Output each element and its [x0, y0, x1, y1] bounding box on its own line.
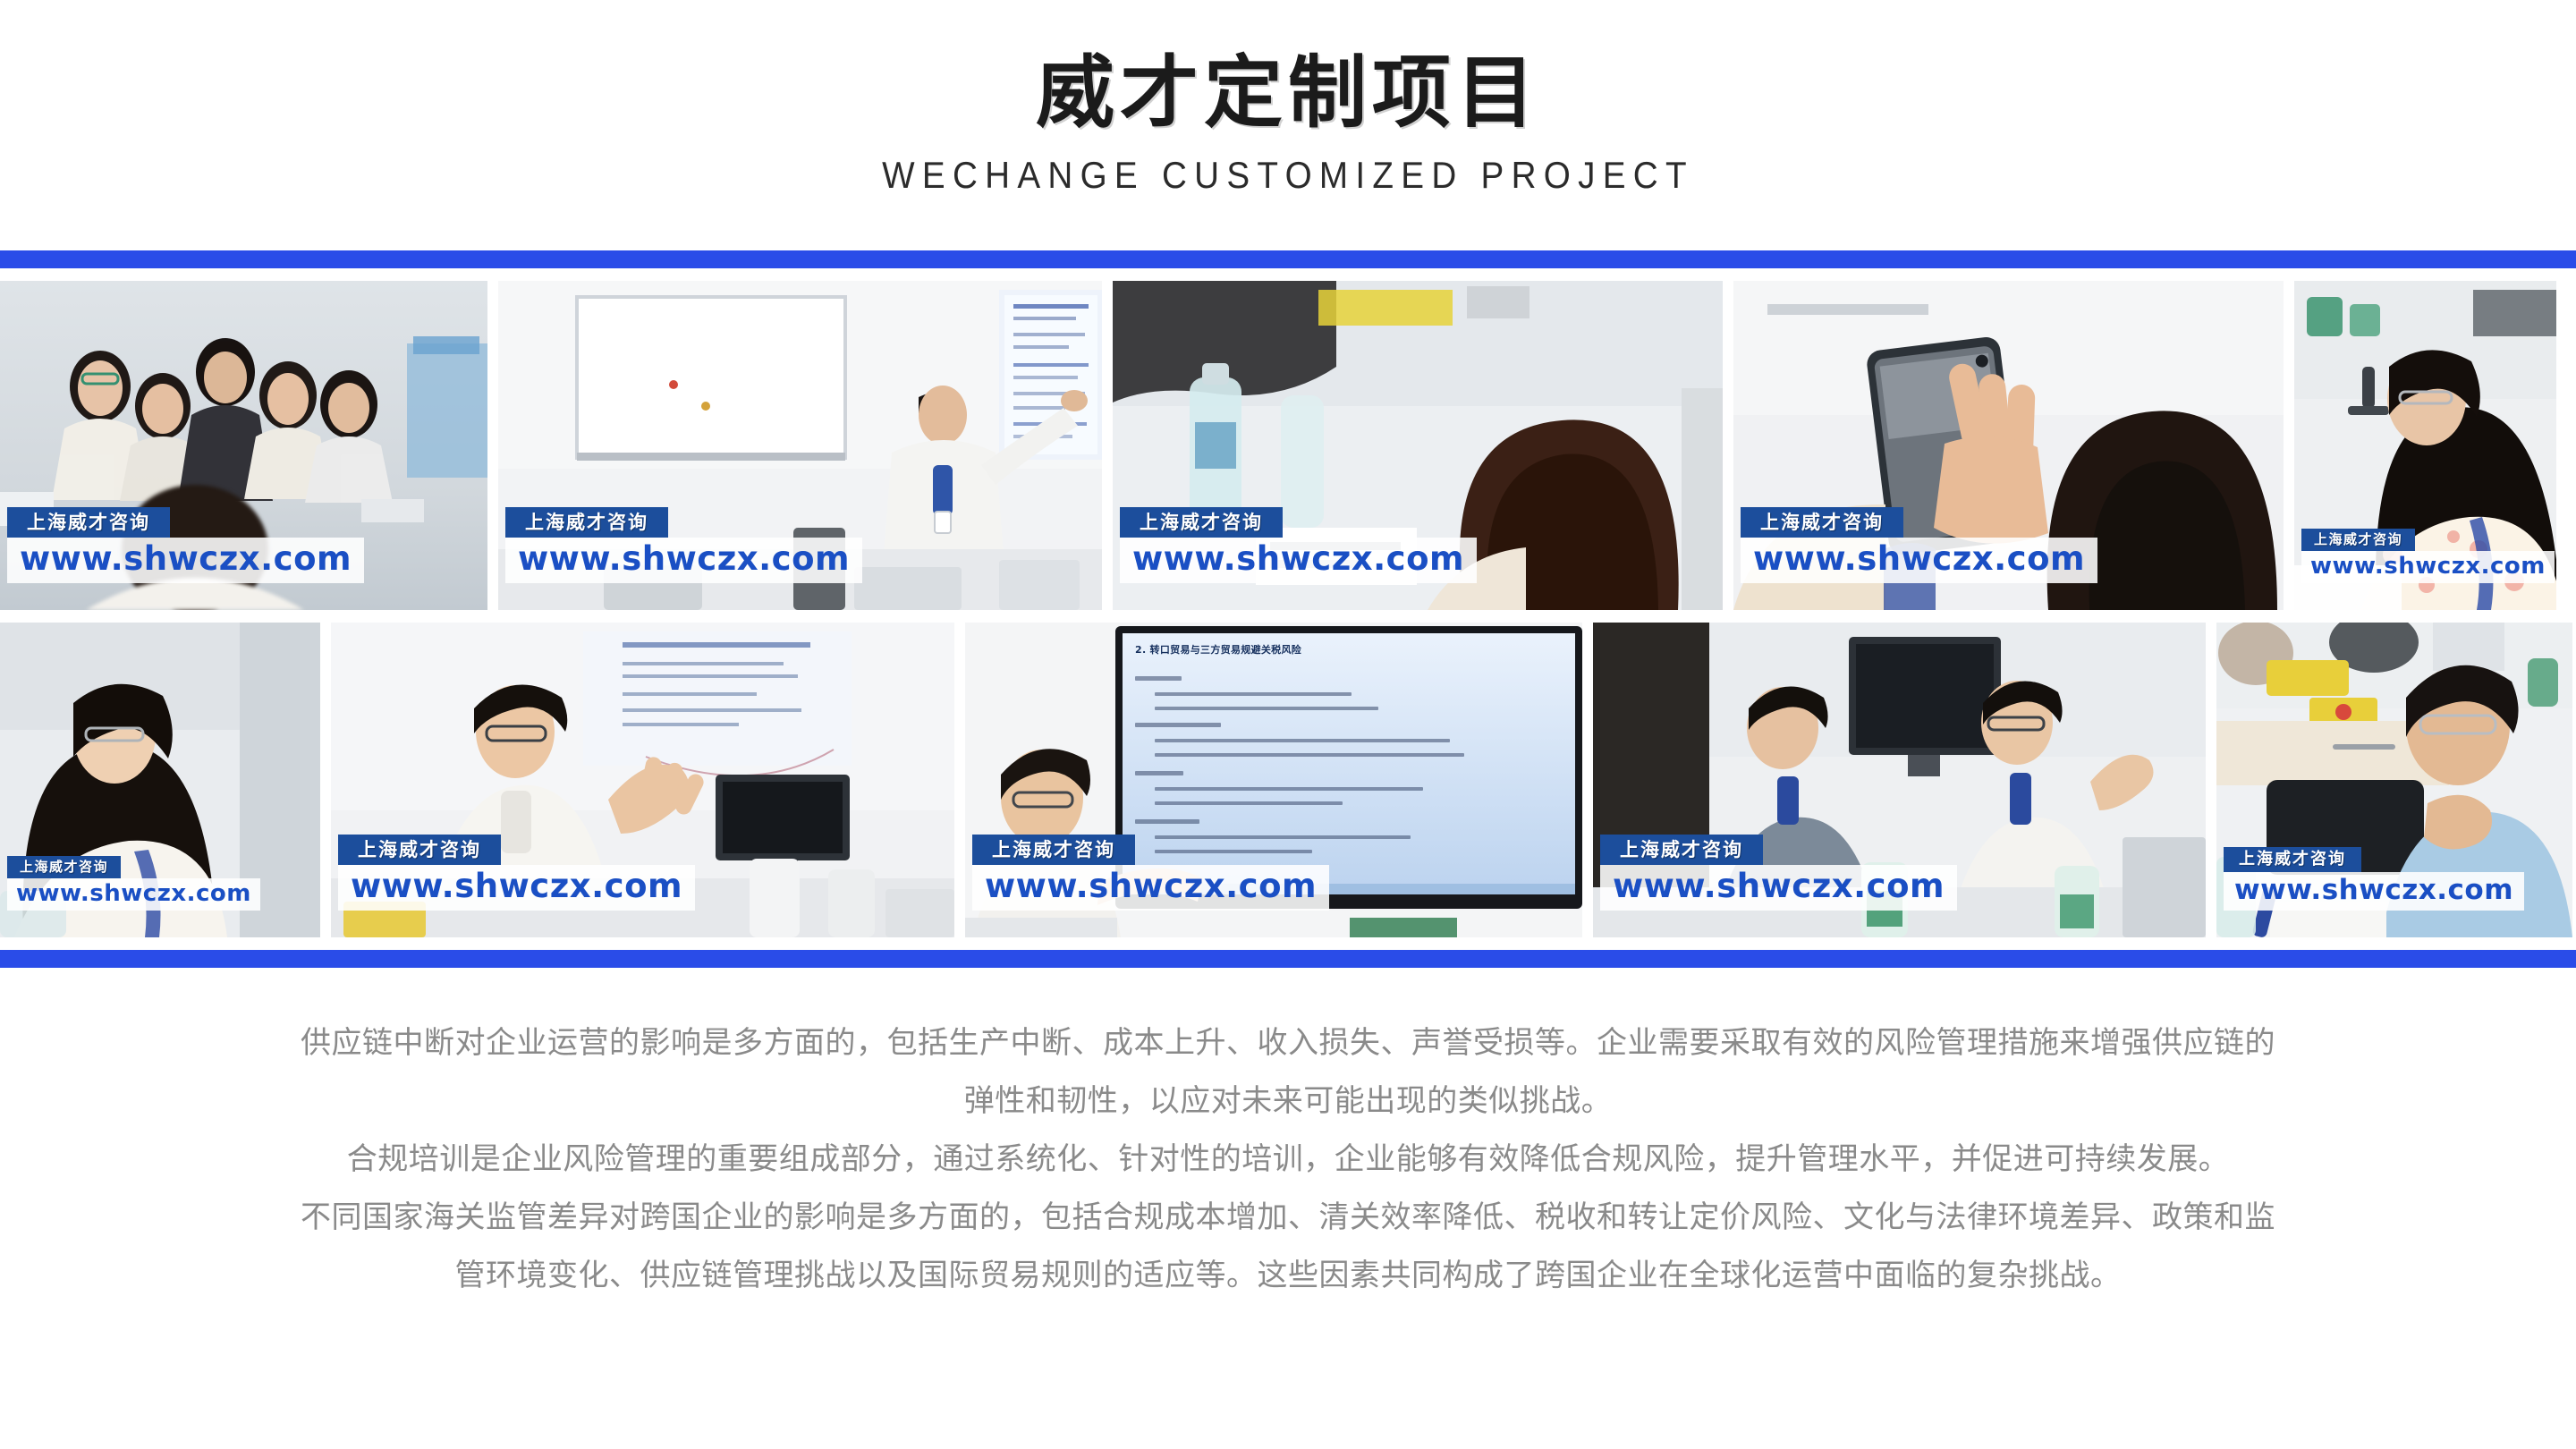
photo-phone-photographing-image	[1733, 281, 2284, 610]
body-line-5: 管环境变化、供应链管理挑战以及国际贸易规则的适应等。这些因素共同构成了跨国企业在…	[89, 1247, 2487, 1305]
photo-two-attendees-discussion-image	[1593, 623, 2206, 937]
photo-attendee-backview-image	[1113, 281, 1723, 610]
photo-presentation-screen-foreground	[965, 623, 1582, 937]
photo-lecturer-gesturing[interactable]: 上海威才咨询 www.shwczx.com	[331, 623, 954, 937]
photo-lecturer-gesturing-image	[331, 623, 954, 937]
photo-man-blue-shirt[interactable]: 上海威才咨询 www.shwczx.com	[2216, 623, 2572, 937]
body-line-3: 合规培训是企业风险管理的重要组成部分，通过系统化、针对性的培训，企业能够有效降低…	[89, 1131, 2487, 1189]
photo-woman-listening-image	[0, 623, 320, 937]
photo-man-blue-shirt-image	[2216, 623, 2572, 937]
gallery-row-bottom: 上海威才咨询 www.shwczx.com	[0, 623, 2576, 937]
body-line-1: 供应链中断对企业运营的影响是多方面的，包括生产中断、成本上升、收入损失、声誉受损…	[89, 1014, 2487, 1072]
photo-classroom-participants-image	[0, 281, 487, 610]
photo-woman-listening[interactable]: 上海威才咨询 www.shwczx.com	[0, 623, 320, 937]
photo-woman-taking-notes-image	[2294, 281, 2556, 610]
page-subtitle: WECHANGE CUSTOMIZED PROJECT	[103, 154, 2473, 197]
divider-top	[0, 250, 2576, 268]
photo-instructor-whiteboard-image	[498, 281, 1102, 610]
page-header: 威才定制项目 WECHANGE CUSTOMIZED PROJECT	[0, 0, 2576, 197]
divider-bottom	[0, 950, 2576, 968]
photo-woman-taking-notes[interactable]: 上海威才咨询 www.shwczx.com	[2294, 281, 2556, 610]
body-copy: 供应链中断对企业运营的影响是多方面的，包括生产中断、成本上升、收入损失、声誉受损…	[89, 1014, 2487, 1305]
body-line-4: 不同国家海关监管差异对跨国企业的影响是多方面的，包括合规成本增加、清关效率降低、…	[89, 1189, 2487, 1247]
photo-phone-photographing[interactable]: 上海威才咨询 www.shwczx.com	[1733, 281, 2284, 610]
photo-two-attendees-discussion[interactable]: 上海威才咨询 www.shwczx.com	[1593, 623, 2206, 937]
photo-instructor-whiteboard[interactable]: 上海威才咨询 www.shwczx.com	[498, 281, 1102, 610]
photo-attendee-backview[interactable]: 上海威才咨询 www.shwczx.com	[1113, 281, 1723, 610]
page-title: 威才定制项目	[0, 52, 2576, 134]
gallery-row-top: 上海威才咨询 www.shwczx.com	[0, 281, 2576, 610]
photo-classroom-participants[interactable]: 上海威才咨询 www.shwczx.com	[0, 281, 487, 610]
photo-presentation-screen[interactable]: 2. 转口贸易与三方贸易规避关税风险	[965, 623, 1582, 937]
photo-gallery: 上海威才咨询 www.shwczx.com	[0, 281, 2576, 937]
body-line-2: 弹性和韧性，以应对未来可能出现的类似挑战。	[89, 1072, 2487, 1131]
